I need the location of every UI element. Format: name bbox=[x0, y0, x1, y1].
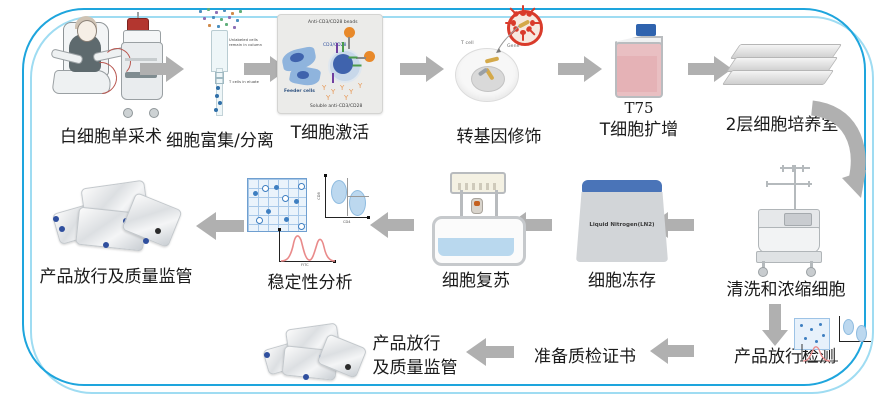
step-activation[interactable]: Anti-CD3/CD28 beads CD3/CD28 Feeder cell… bbox=[262, 14, 398, 144]
step-label-final-release-line2: 及质量监管 bbox=[373, 359, 458, 379]
step-label-coa-prep: 准备质检证书 bbox=[520, 348, 650, 368]
step-label-activation: T细胞激活 bbox=[262, 124, 398, 144]
transduction-label-gene: Gene bbox=[507, 44, 520, 49]
scatter-xlabel: CD4 bbox=[343, 220, 351, 224]
activation-label-feeder: Feeder cells bbox=[284, 89, 315, 94]
fitc-histogram-icon: FITC bbox=[273, 230, 343, 270]
step-label-expansion: T细胞扩增 bbox=[584, 121, 694, 141]
step-label-release-qc: 产品放行及质量监管 bbox=[26, 268, 206, 288]
cd4-cd8-scatter-icon: CD8 CD4 bbox=[319, 176, 371, 228]
step-wash-concentrate[interactable]: 清洗和浓缩细胞 bbox=[706, 165, 866, 301]
flask-cap-icon bbox=[636, 24, 656, 36]
cell-washer-machine-icon bbox=[740, 165, 832, 277]
step-transduction[interactable]: T cell Gene 转基因修饰 bbox=[434, 8, 564, 148]
transduction-label-tcell: T cell bbox=[461, 41, 474, 46]
activation-label-beads: Anti-CD3/CD28 beads bbox=[308, 20, 358, 25]
release-assay-plots-icon bbox=[794, 312, 878, 362]
step-coa-prep[interactable]: 准备质检证书 bbox=[520, 330, 650, 368]
step-final-release[interactable]: 产品放行 及质量监管 bbox=[250, 322, 470, 392]
cryo-bags-icon bbox=[263, 322, 367, 392]
step-label-final-release-line1: 产品放行 bbox=[373, 335, 458, 355]
liquid-nitrogen-tank-icon: Liquid Nitrogen(LN2) bbox=[572, 178, 672, 266]
arrow-left-6 bbox=[466, 338, 514, 366]
arrow-left-5 bbox=[650, 338, 694, 364]
scatter-ylabel: CD8 bbox=[317, 192, 321, 200]
step-thawing[interactable]: 细胞复苏 bbox=[414, 172, 538, 292]
flask-sublabel-t75: T75 bbox=[584, 99, 694, 117]
step-label-wash-concentrate: 清洗和浓缩细胞 bbox=[706, 281, 866, 301]
step-label-thawing: 细胞复苏 bbox=[414, 272, 538, 292]
hemocytometer-grid-icon bbox=[247, 178, 307, 232]
t75-flask-icon bbox=[611, 22, 667, 98]
ln2-body-label: Liquid Nitrogen(LN2) bbox=[572, 222, 672, 228]
two-layer-cell-stack-icon bbox=[727, 44, 837, 84]
activation-label-soluble: Soluble anti-CD3/CD28 bbox=[310, 104, 362, 109]
step-expansion[interactable]: T75 T细胞扩增 bbox=[584, 22, 694, 141]
workflow-diagram: 白细胞单采术 Unlabe bbox=[0, 0, 888, 403]
cryo-bags-icon bbox=[51, 176, 181, 262]
step-cryopreserve[interactable]: Liquid Nitrogen(LN2) 细胞冻存 bbox=[558, 178, 686, 292]
flow-cytometry-plots-icon: CD8 CD4 FITC bbox=[247, 170, 373, 270]
step-label-transduction: 转基因修饰 bbox=[434, 128, 564, 148]
step-release-qc[interactable]: 产品放行及质量监管 bbox=[26, 176, 206, 288]
arrow-left-3 bbox=[370, 212, 414, 238]
histogram-xlabel: FITC bbox=[301, 263, 309, 267]
t-cell-activation-icon: Anti-CD3/CD28 beads CD3/CD28 Feeder cell… bbox=[277, 14, 383, 114]
viral-vector-gene-icon: T cell Gene bbox=[445, 8, 553, 120]
step-stability[interactable]: CD8 CD4 FITC 稳定性分析 bbox=[244, 170, 376, 294]
water-bath-thawer-icon bbox=[428, 172, 524, 266]
step-release-testing[interactable]: 产品放行检测 bbox=[700, 330, 870, 368]
step-label-stability: 稳定性分析 bbox=[244, 274, 376, 294]
step-label-cryopreserve: 细胞冻存 bbox=[558, 272, 686, 292]
